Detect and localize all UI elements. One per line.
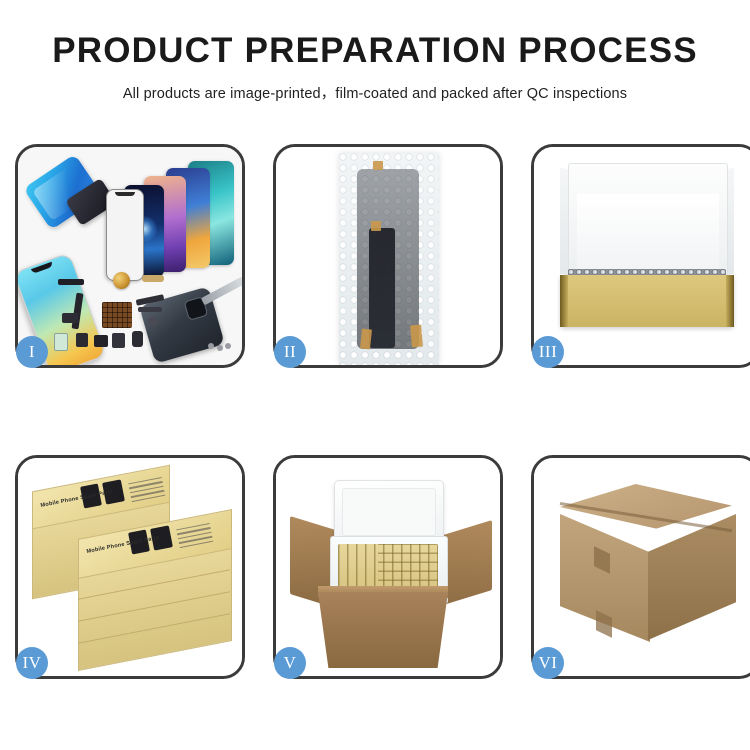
screws-icon	[208, 343, 230, 351]
panel-step-4-image: Mobile Phone Spare Parts Mobile Phone Sp…	[18, 458, 242, 676]
panel-step-5[interactable]: V	[273, 455, 503, 679]
panel-step-6-image	[534, 458, 750, 676]
component-icon	[142, 275, 164, 282]
carton-side-icon	[648, 514, 736, 640]
panel-step-2[interactable]: II	[273, 144, 503, 368]
phone-glass-icon	[106, 189, 144, 281]
carton-body-icon	[318, 592, 448, 668]
process-steps-grid: I II III	[15, 144, 735, 679]
component-icon	[76, 333, 88, 347]
panel-step-6[interactable]: VI	[531, 455, 750, 679]
wrapped-flex-icon	[369, 228, 395, 348]
panel-step-4[interactable]: Mobile Phone Spare Parts Mobile Phone Sp…	[15, 455, 245, 679]
foam-lid-icon	[568, 163, 728, 281]
panel-step-3-image	[534, 147, 750, 365]
kraft-box-icon	[560, 275, 734, 327]
chip-grid-icon	[102, 302, 132, 328]
component-icon	[58, 279, 84, 285]
component-icon	[132, 331, 143, 347]
box-stack: Mobile Phone Spare Parts Mobile Phone Sp…	[26, 472, 238, 668]
step-badge: VI	[532, 647, 564, 679]
component-icon	[112, 333, 125, 348]
component-icon	[62, 313, 78, 323]
panel-step-5-image	[276, 458, 500, 676]
step-badge: III	[532, 336, 564, 368]
tape-icon	[410, 325, 423, 348]
packed-boxes-icon	[338, 544, 438, 590]
tape-icon	[360, 329, 372, 350]
step-badge: II	[274, 336, 306, 368]
page-title: PRODUCT PREPARATION PROCESS	[0, 33, 750, 68]
copper-coil-icon	[113, 272, 130, 289]
page-subtitle: All products are image-printed，film-coat…	[0, 82, 750, 103]
component-icon	[54, 333, 68, 351]
page-header: PRODUCT PREPARATION PROCESS All products…	[0, 0, 750, 103]
panel-step-3[interactable]: III	[531, 144, 750, 368]
tape-icon	[373, 161, 383, 170]
component-icon	[148, 317, 158, 327]
panel-step-1[interactable]: I	[15, 144, 245, 368]
flex-cable-icon	[138, 307, 162, 312]
component-icon	[94, 335, 108, 347]
step-badge: V	[274, 647, 306, 679]
step-badge: I	[16, 336, 48, 368]
foam-lid-icon	[334, 480, 444, 544]
bubble-wrap-icon	[339, 153, 439, 365]
panel-step-1-image	[18, 147, 242, 365]
phone-screens-fan	[110, 161, 242, 281]
step-badge: IV	[16, 647, 48, 679]
panel-step-2-image	[276, 147, 500, 365]
tape-icon	[371, 221, 381, 231]
